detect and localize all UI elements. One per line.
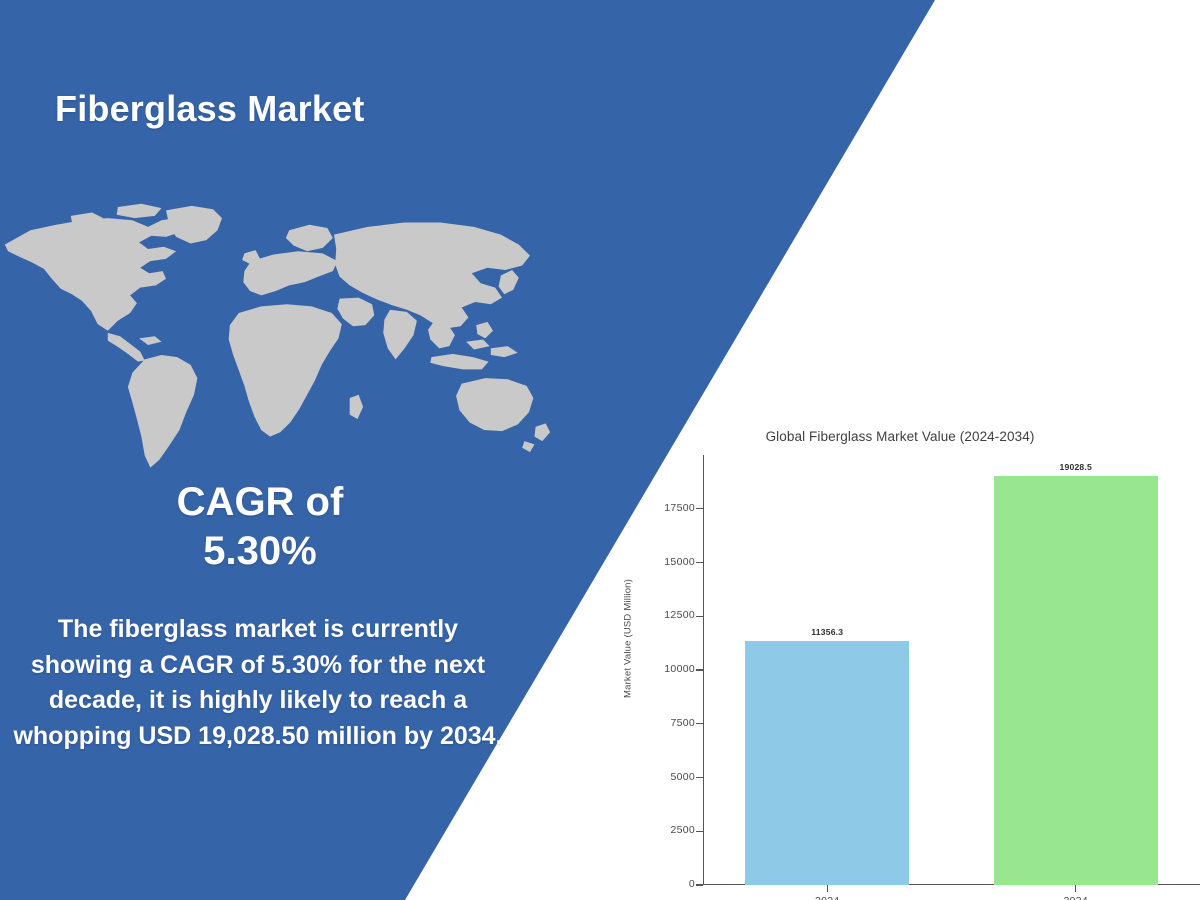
y-tick-label: 12500 xyxy=(637,609,695,621)
y-tick-mark xyxy=(696,669,703,670)
y-tick-mark xyxy=(696,884,703,885)
cagr-line-1: CAGR of xyxy=(177,480,344,524)
y-tick-mark xyxy=(696,723,703,724)
chart-title: Global Fiberglass Market Value (2024-203… xyxy=(600,429,1200,444)
y-tick-mark xyxy=(696,777,703,778)
y-tick-mark xyxy=(696,616,703,617)
bar-value-label-2024: 11356.3 xyxy=(772,627,882,637)
x-tick-label: 2024 xyxy=(787,895,867,900)
cagr-headline: CAGR of 5.30% xyxy=(0,478,520,576)
chart-y-axis-label: Market Value (USD Million) xyxy=(623,549,634,729)
y-tick-label: 7500 xyxy=(637,717,695,729)
y-tick-label: 2500 xyxy=(637,824,695,836)
y-tick-label: 10000 xyxy=(637,663,695,675)
infographic-canvas: Fiberglass Market xyxy=(0,0,1200,900)
world-map-icon xyxy=(0,196,558,472)
x-tick-mark xyxy=(827,885,828,892)
summary-paragraph: The fiberglass market is currently showi… xyxy=(8,612,508,754)
cagr-line-2: 5.30% xyxy=(0,527,520,576)
page-title: Fiberglass Market xyxy=(55,88,365,130)
y-tick-mark xyxy=(696,508,703,509)
y-tick-label: 0 xyxy=(637,878,695,890)
y-tick-mark xyxy=(696,562,703,563)
y-tick-mark xyxy=(696,831,703,832)
x-tick-label: 2034 xyxy=(1036,895,1116,900)
bar-2034[interactable] xyxy=(994,476,1158,885)
y-tick-label: 5000 xyxy=(637,771,695,783)
y-tick-label: 15000 xyxy=(637,556,695,568)
bar-2024[interactable] xyxy=(745,641,909,885)
bar-value-label-2034: 19028.5 xyxy=(1021,462,1131,472)
market-value-bar-chart: Global Fiberglass Market Value (2024-203… xyxy=(600,415,1200,900)
x-tick-mark xyxy=(1075,885,1076,892)
y-tick-label: 17500 xyxy=(637,502,695,514)
